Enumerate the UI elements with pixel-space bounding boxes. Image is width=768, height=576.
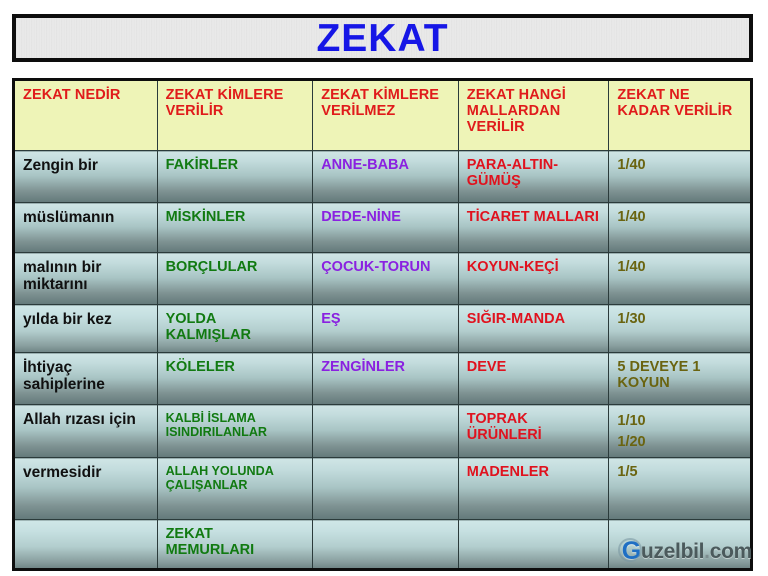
- table-row: malının bir miktarını BORÇLULAR ÇOCUK-TO…: [14, 253, 752, 305]
- cell-non-recipients: ANNE-BABA: [313, 151, 459, 203]
- cell-definition: yılda bir kez: [14, 305, 158, 353]
- cell-amount: 1/40: [609, 253, 752, 305]
- cell-goods: [458, 520, 609, 570]
- table-row: Zengin bir FAKİRLER ANNE-BABA PARA-ALTIN…: [14, 151, 752, 203]
- cell-amount: [609, 520, 752, 570]
- cell-recipients: KÖLELER: [157, 353, 313, 405]
- table-row: vermesidir ALLAH YOLUNDA ÇALIŞANLAR MADE…: [14, 458, 752, 520]
- cell-definition: [14, 520, 158, 570]
- cell-recipients: FAKİRLER: [157, 151, 313, 203]
- cell-goods: MADENLER: [458, 458, 609, 520]
- cell-goods: TOPRAK ÜRÜNLERİ: [458, 405, 609, 458]
- cell-goods: PARA-ALTIN-GÜMÜŞ: [458, 151, 609, 203]
- cell-definition: vermesidir: [14, 458, 158, 520]
- table-header: ZEKAT NEDİR ZEKAT KİMLERE VERİLİR ZEKAT …: [14, 80, 752, 151]
- cell-non-recipients: [313, 458, 459, 520]
- column-header-recipients: ZEKAT KİMLERE VERİLİR: [157, 80, 313, 151]
- cell-recipients: BORÇLULAR: [157, 253, 313, 305]
- cell-goods: SIĞIR-MANDA: [458, 305, 609, 353]
- table-row: ZEKAT MEMURLARI: [14, 520, 752, 570]
- cell-non-recipients: EŞ: [313, 305, 459, 353]
- cell-amount: 1/40: [609, 203, 752, 253]
- column-header-amount: ZEKAT NE KADAR VERİLİR: [609, 80, 752, 151]
- column-header-non-recipients: ZEKAT KİMLERE VERİLMEZ: [313, 80, 459, 151]
- cell-non-recipients: ZENGİNLER: [313, 353, 459, 405]
- table-row: müslümanın MİSKİNLER DEDE-NİNE TİCARET M…: [14, 203, 752, 253]
- cell-goods: KOYUN-KEÇİ: [458, 253, 609, 305]
- table-header-row: ZEKAT NEDİR ZEKAT KİMLERE VERİLİR ZEKAT …: [14, 80, 752, 151]
- column-header-goods: ZEKAT HANGİ MALLARDAN VERİLİR: [458, 80, 609, 151]
- slide-title-box: ZEKAT: [12, 14, 753, 62]
- page-title: ZEKAT: [316, 19, 448, 58]
- cell-definition: malının bir miktarını: [14, 253, 158, 305]
- table-row: Allah rızası için KALBİ İSLAMA ISINDIRIL…: [14, 405, 752, 458]
- cell-definition: Allah rızası için: [14, 405, 158, 458]
- cell-non-recipients: DEDE-NİNE: [313, 203, 459, 253]
- table-row: İhtiyaç sahiplerine KÖLELER ZENGİNLER DE…: [14, 353, 752, 405]
- cell-non-recipients: ÇOCUK-TORUN: [313, 253, 459, 305]
- cell-definition: müslümanın: [14, 203, 158, 253]
- cell-non-recipients: [313, 405, 459, 458]
- cell-amount: 1/30: [609, 305, 752, 353]
- column-header-definition: ZEKAT NEDİR: [14, 80, 158, 151]
- cell-goods: TİCARET MALLARI: [458, 203, 609, 253]
- cell-definition: Zengin bir: [14, 151, 158, 203]
- cell-amount: 1/5: [609, 458, 752, 520]
- cell-recipients: ALLAH YOLUNDA ÇALIŞANLAR: [157, 458, 313, 520]
- cell-non-recipients: [313, 520, 459, 570]
- cell-recipients: ZEKAT MEMURLARI: [157, 520, 313, 570]
- table-row: yılda bir kez YOLDA KALMIŞLAR EŞ SIĞIR-M…: [14, 305, 752, 353]
- cell-goods: DEVE: [458, 353, 609, 405]
- cell-recipients: MİSKİNLER: [157, 203, 313, 253]
- zekat-summary-table: ZEKAT NEDİR ZEKAT KİMLERE VERİLİR ZEKAT …: [12, 78, 753, 571]
- cell-amount: 1/10 1/20: [609, 405, 752, 458]
- table-body: Zengin bir FAKİRLER ANNE-BABA PARA-ALTIN…: [14, 151, 752, 570]
- cell-amount: 1/40: [609, 151, 752, 203]
- cell-recipients: YOLDA KALMIŞLAR: [157, 305, 313, 353]
- cell-definition: İhtiyaç sahiplerine: [14, 353, 158, 405]
- cell-recipients: KALBİ İSLAMA ISINDIRILANLAR: [157, 405, 313, 458]
- cell-amount: 5 DEVEYE 1 KOYUN: [609, 353, 752, 405]
